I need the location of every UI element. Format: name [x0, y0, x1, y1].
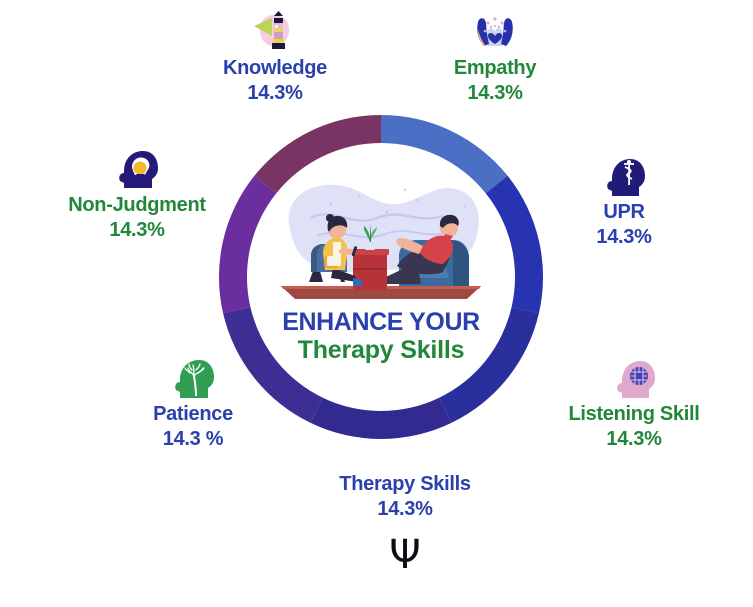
label-text: Empathy [395, 57, 595, 81]
head-ear-brain-icon [609, 352, 659, 402]
label-percent: 14.3 % [93, 427, 293, 451]
head-tree-icon [168, 352, 218, 402]
label-percent: 14.3% [305, 497, 505, 521]
label-text: Knowledge [175, 57, 375, 81]
psi-symbol: Ψ [305, 535, 505, 575]
head-lightbulb-icon [112, 143, 162, 193]
segment-label-non-judgment[interactable]: Non-Judgment 14.3% [37, 143, 237, 242]
segment-label-knowledge[interactable]: Knowledge 14.3% [175, 6, 375, 105]
label-text: Listening Skill [534, 403, 734, 427]
ring-segment-therapy-skills[interactable] [311, 398, 452, 439]
hands-heart-icon [470, 6, 520, 56]
label-percent: 14.3% [175, 81, 375, 105]
label-text: Non-Judgment [37, 194, 237, 218]
label-percent: 14.3% [534, 427, 734, 451]
label-percent: 14.3% [395, 81, 595, 105]
center-title-line2: Therapy Skills [258, 336, 504, 366]
center-title-line1: ENHANCE YOUR [258, 308, 504, 336]
therapy-session-illustration [267, 160, 495, 302]
segment-label-listening-skill[interactable]: Listening Skill 14.3% [534, 352, 734, 451]
segment-label-upr[interactable]: UPR 14.3% [524, 150, 724, 249]
head-caduceus-icon [599, 150, 649, 200]
infographic-canvas: ENHANCE YOUR Therapy Skills Knowledge 14… [0, 0, 753, 607]
segment-label-therapy-skills[interactable]: Therapy Skills 14.3% [305, 473, 505, 521]
segment-label-patience[interactable]: Patience 14.3 % [93, 352, 293, 451]
center-content: ENHANCE YOUR Therapy Skills [258, 160, 504, 366]
label-text: Therapy Skills [305, 473, 505, 497]
label-text: Patience [93, 403, 293, 427]
label-text: UPR [524, 201, 724, 225]
segment-label-empathy[interactable]: Empathy 14.3% [395, 6, 595, 105]
lighthouse-head-icon [250, 6, 300, 56]
label-percent: 14.3% [37, 218, 237, 242]
label-percent: 14.3% [524, 225, 724, 249]
